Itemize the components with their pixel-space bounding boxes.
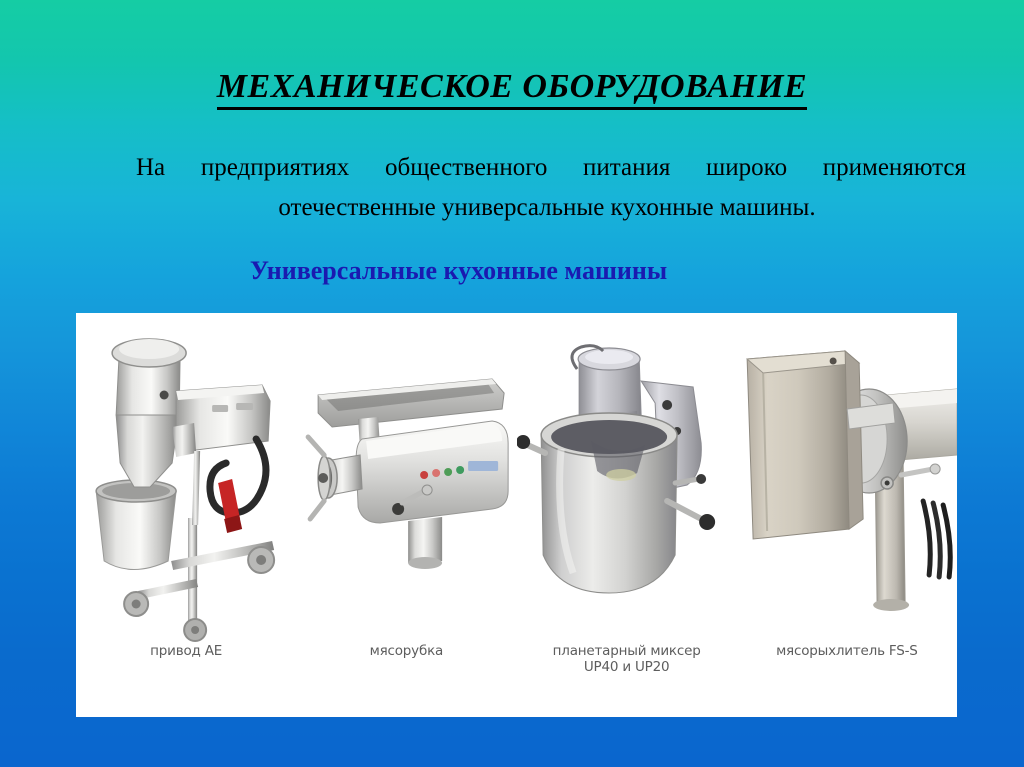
photo-caption: планетарный миксер UP40 и UP20 — [517, 643, 737, 675]
photo-caption: мясорубка — [296, 643, 516, 659]
section-subtitle: Универсальные кухонные машины — [76, 256, 841, 286]
photo-cell-planetary-mixer: планетарный миксер UP40 и UP20 — [517, 313, 737, 717]
photo-caption: мясорыхлитель FS-S — [737, 643, 957, 659]
page-title: МЕХАНИЧЕСКОЕ ОБОРУДОВАНИЕ — [0, 68, 1024, 106]
photo-cell-universal-drive: привод АЕ — [76, 313, 296, 717]
photo-caption-line1: мясорубка — [370, 643, 444, 659]
photo-panel: привод АЕ — [76, 313, 957, 717]
meat-grinder-image — [296, 323, 516, 643]
photo-caption: привод АЕ — [76, 643, 296, 659]
universal-drive-ae-image — [76, 323, 296, 643]
photo-cell-meat-tenderizer: мясорыхлитель FS-S — [737, 313, 957, 717]
photo-caption-line1: планетарный миксер — [553, 643, 701, 659]
photo-grid: привод АЕ — [76, 313, 957, 717]
photo-caption-line2: UP40 и UP20 — [517, 659, 737, 675]
photo-cell-meat-grinder: мясорубка — [296, 313, 516, 717]
body-paragraph: На предприятиях общественного питания ши… — [128, 148, 966, 228]
meat-tenderizer-fs-s-image — [737, 323, 957, 643]
photo-caption-line1: мясорыхлитель FS-S — [776, 643, 918, 659]
photo-caption-line1: привод АЕ — [150, 643, 222, 659]
presentation-slide: МЕХАНИЧЕСКОЕ ОБОРУДОВАНИЕ На предприятия… — [0, 0, 1024, 767]
planetary-mixer-image — [517, 323, 737, 643]
page-title-text: МЕХАНИЧЕСКОЕ ОБОРУДОВАНИЕ — [217, 68, 807, 110]
